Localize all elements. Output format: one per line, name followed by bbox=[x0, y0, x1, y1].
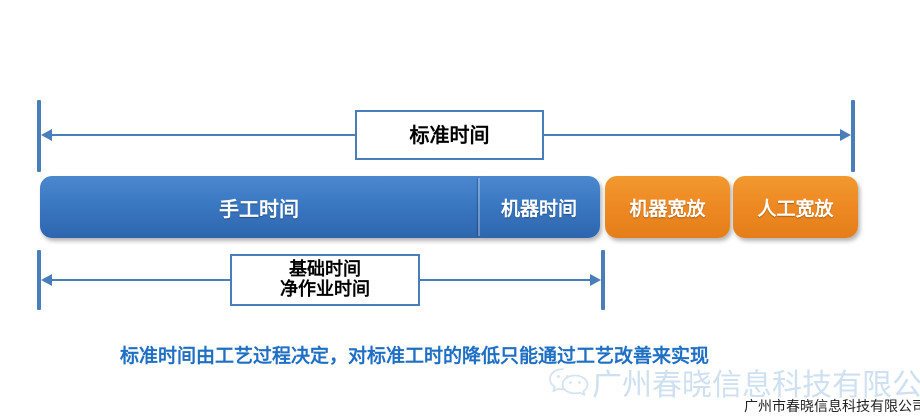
base-time-arrow-line-right bbox=[420, 279, 590, 281]
slide-canvas: 标准时间 手工时间 机器时间 机器宽放 人工宽放 基础时间 净作业时间 标准时间… bbox=[0, 0, 920, 419]
standard-time-arrow-line-right bbox=[544, 134, 840, 136]
standard-time-arrow-head-left bbox=[41, 129, 52, 141]
segment-machine-time-label: 机器时间 bbox=[501, 194, 577, 221]
base-time-arrow-head-left bbox=[41, 274, 52, 286]
base-time-arrow-head-right bbox=[590, 274, 601, 286]
segment-machine-allowance: 机器宽放 bbox=[605, 176, 730, 238]
segment-machine-time: 机器时间 bbox=[478, 176, 600, 238]
standard-time-arrow-line-left bbox=[48, 134, 355, 136]
standard-time-label-box: 标准时间 bbox=[355, 110, 544, 160]
standard-time-arrow-head-right bbox=[840, 129, 851, 141]
segment-manual-allowance-label: 人工宽放 bbox=[757, 194, 833, 221]
segment-manual-time-label: 手工时间 bbox=[219, 193, 299, 222]
segment-machine-allowance-label: 机器宽放 bbox=[629, 194, 705, 221]
footer-company: 广州市春晓信息科技有限公司 bbox=[744, 396, 920, 416]
base-time-label-line1: 基础时间 bbox=[289, 260, 361, 280]
segment-manual-time: 手工时间 bbox=[40, 176, 478, 238]
wechat-icon bbox=[548, 366, 590, 400]
base-time-label-box: 基础时间 净作业时间 bbox=[230, 254, 420, 306]
base-time-right-tick bbox=[601, 250, 605, 310]
base-time-arrow-line-left bbox=[48, 279, 230, 281]
base-time-label-line2: 净作业时间 bbox=[280, 280, 370, 300]
standard-time-right-tick bbox=[851, 100, 855, 172]
standard-time-label: 标准时间 bbox=[410, 124, 490, 146]
blue-bar-divider bbox=[478, 178, 480, 236]
segment-manual-allowance: 人工宽放 bbox=[733, 176, 858, 238]
